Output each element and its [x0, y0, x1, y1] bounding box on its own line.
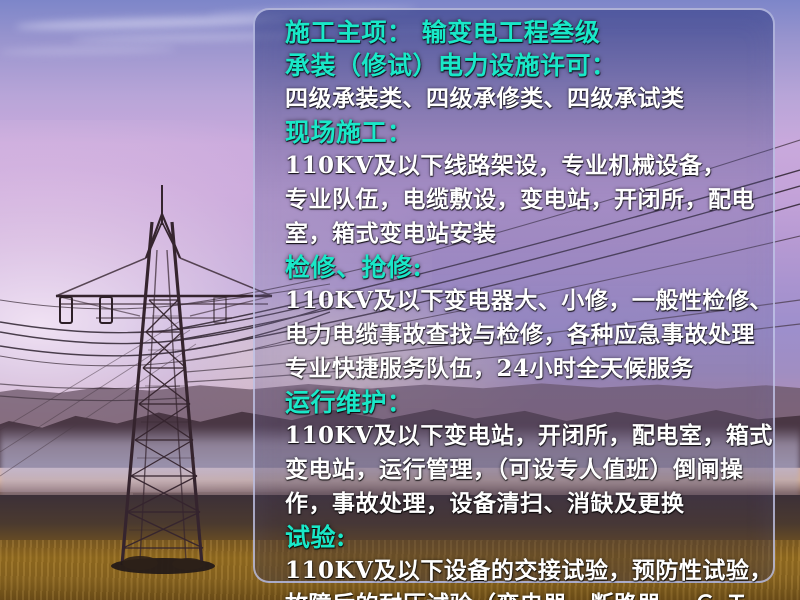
section-heading: 现场施工：: [285, 116, 765, 149]
section-heading: 施工主项： 输变电工程叁级: [285, 16, 765, 49]
service-description-text: 施工主项： 输变电工程叁级承装（修试）电力设施许可：四级承装类、四级承修类、四级…: [285, 16, 765, 600]
content-panel: 施工主项： 输变电工程叁级承装（修试）电力设施许可：四级承装类、四级承修类、四级…: [253, 8, 775, 583]
section-heading: 试验:: [285, 521, 765, 554]
section-heading: 承装（修试）电力设施许可：: [285, 49, 765, 82]
section-heading: 运行维护：: [285, 386, 765, 419]
body-line: 110KV及以下线路架设，专业机械设备，: [285, 149, 765, 183]
body-line: 110KV及以下设备的交接试验，预防性试验，: [285, 554, 765, 588]
body-line: 110KV及以下变电站，开闭所，配电室，箱式: [285, 419, 765, 453]
body-line: 作，事故处理，设备清扫、消缺及更换: [285, 487, 765, 521]
body-line: 专业快捷服务队伍，24小时全天候服务: [285, 352, 765, 386]
body-line: 专业队伍，电缆敷设，变电站，开闭所，配电: [285, 183, 765, 217]
section-heading: 检修、抢修:: [285, 251, 765, 284]
body-line: 110KV及以下变电器大、小修，一般性检修、: [285, 284, 765, 318]
body-line: 室，箱式变电站安装: [285, 217, 765, 251]
body-line: 四级承装类、四级承修类、四级承试类: [285, 82, 765, 116]
body-line: 电力电缆事故查找与检修，各种应急事故处理: [285, 318, 765, 352]
slide-canvas: 施工主项： 输变电工程叁级承装（修试）电力设施许可：四级承装类、四级承修类、四级…: [0, 0, 800, 600]
body-line: 故障后的耐压试验（变电器，断路器， Ｃ Ｔ: [285, 588, 765, 600]
body-line: 变电站，运行管理，（可设专人值班）倒闸操: [285, 453, 765, 487]
